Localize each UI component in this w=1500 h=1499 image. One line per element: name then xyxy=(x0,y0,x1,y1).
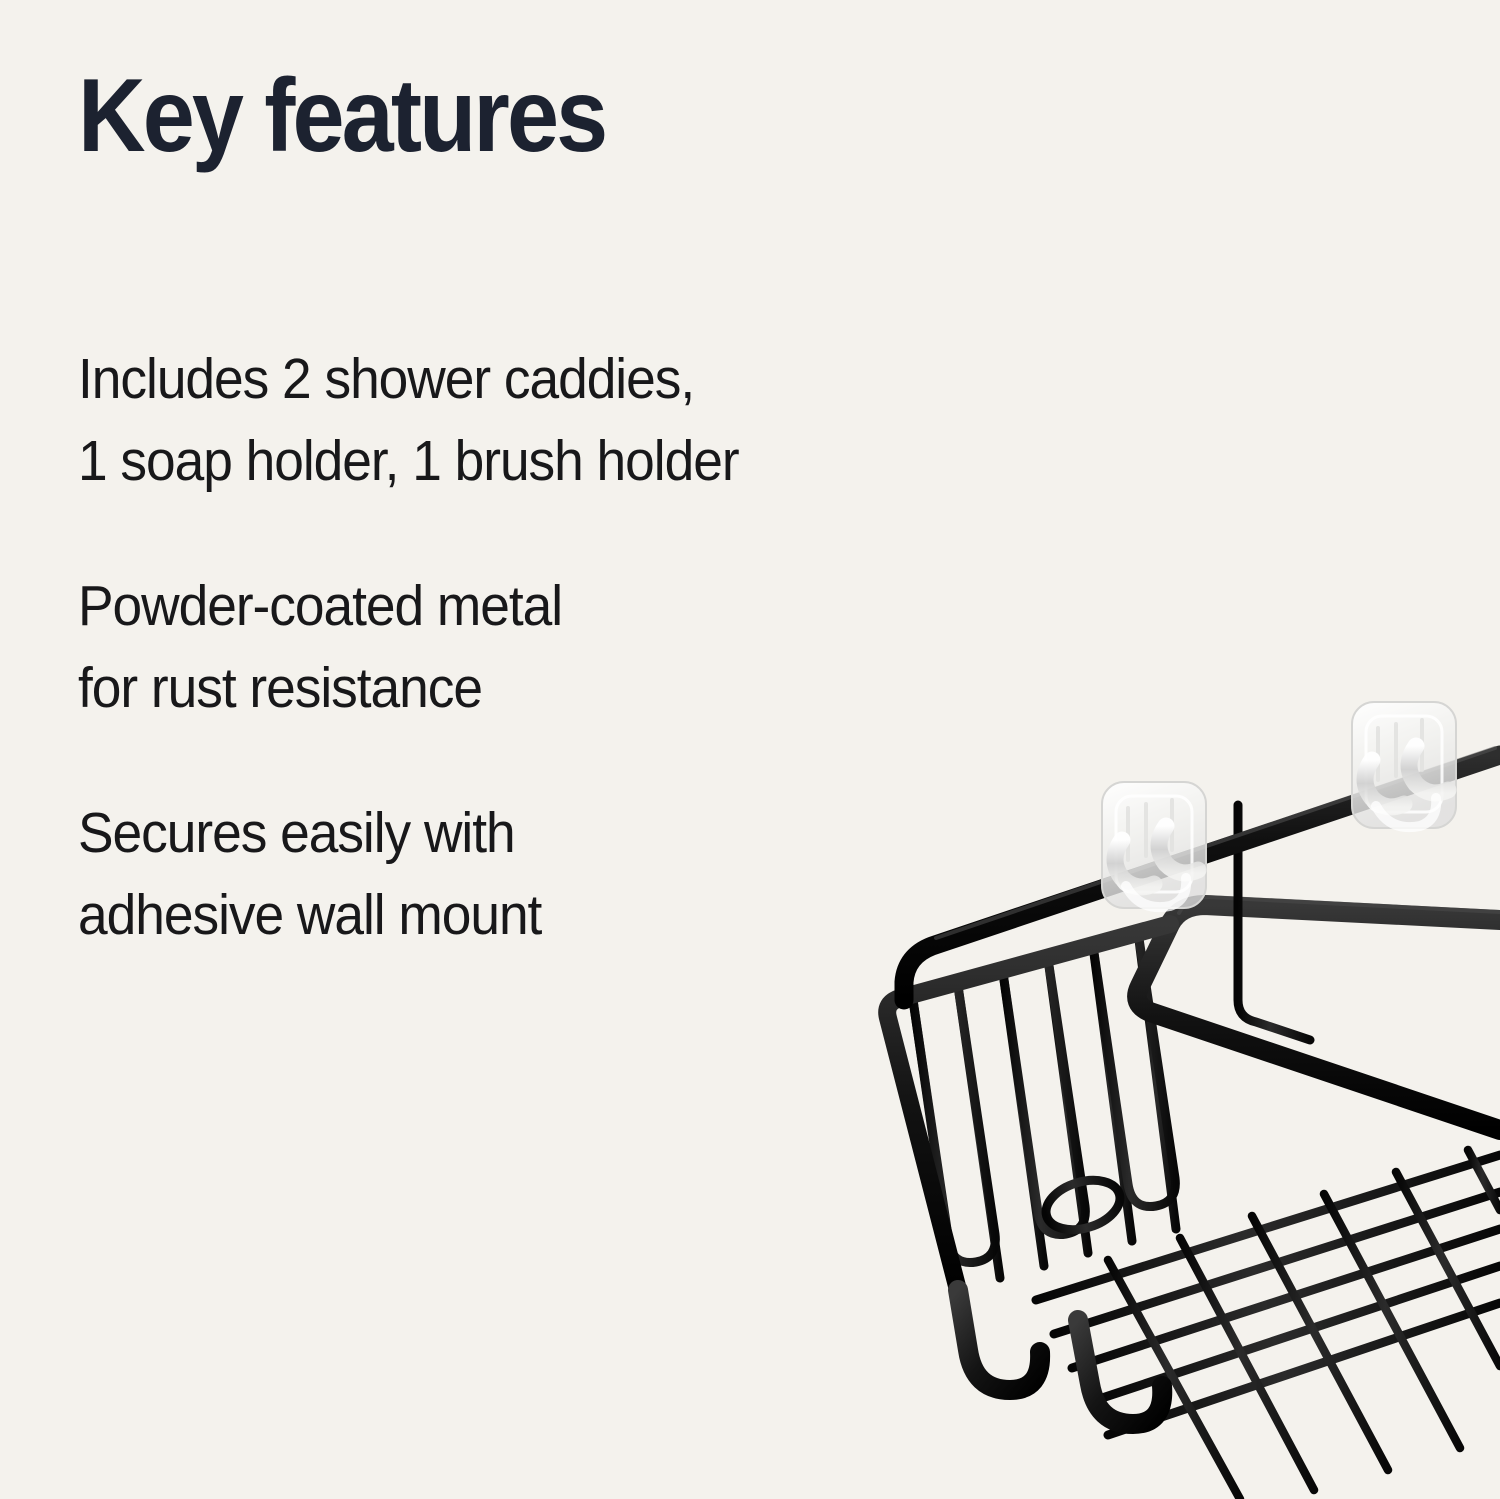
feature-line: adhesive wall mount xyxy=(78,874,826,956)
shower-caddy-photo xyxy=(840,700,1500,1499)
feature-item-powder-coated: Powder-coated metal for rust resistance xyxy=(78,565,878,729)
feature-line: Powder-coated metal xyxy=(78,565,826,647)
features-list: Includes 2 shower caddies, 1 soap holder… xyxy=(78,338,878,956)
key-features-page: Key features Includes 2 shower caddies, … xyxy=(0,0,1500,1499)
text-panel: Key features Includes 2 shower caddies, … xyxy=(0,0,900,1499)
feature-item-adhesive-mount: Secures easily with adhesive wall mount xyxy=(78,792,878,956)
feature-line: Secures easily with xyxy=(78,792,826,874)
feature-line: Includes 2 shower caddies, xyxy=(78,338,826,420)
adhesive-wall-mount-left xyxy=(1102,782,1206,908)
adhesive-wall-mount-right xyxy=(1352,702,1456,828)
feature-item-includes: Includes 2 shower caddies, 1 soap holder… xyxy=(78,338,878,502)
page-title: Key features xyxy=(78,62,605,170)
feature-line: 1 soap holder, 1 brush holder xyxy=(78,420,826,502)
feature-line: for rust resistance xyxy=(78,647,826,729)
